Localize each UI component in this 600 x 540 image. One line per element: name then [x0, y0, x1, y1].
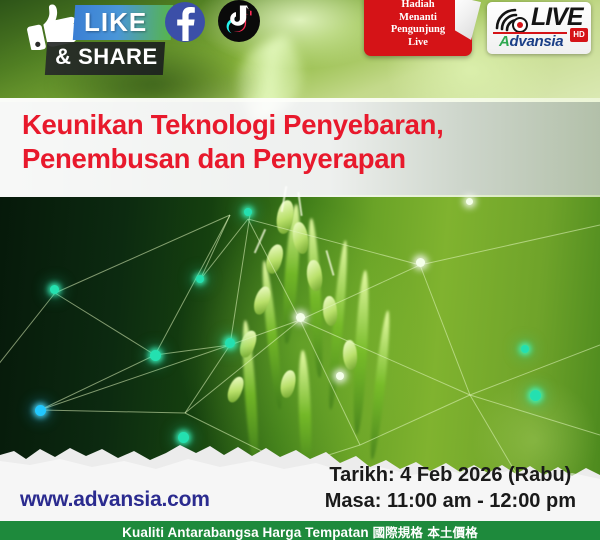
tiktok-glyph — [218, 0, 260, 42]
facebook-glyph — [165, 2, 205, 42]
network-node — [416, 258, 425, 267]
network-node — [196, 275, 204, 283]
share-label: & SHARE — [55, 44, 158, 70]
like-bar[interactable]: LIKE — [73, 5, 173, 40]
advansia-logo-rest: dvansia — [510, 33, 564, 50]
title-line-1: Keunikan Teknologi Penyebaran, — [22, 108, 582, 142]
broadcast-wave-icon — [491, 6, 531, 32]
network-node — [466, 198, 473, 205]
network-node — [521, 345, 529, 353]
network-node — [530, 390, 541, 401]
footer-tagline: Kualiti Antarabangsa Harga Tempatan 國際規格… — [0, 522, 600, 540]
promo-poster: Keunikan Teknologi Penyebaran, Penembusa… — [0, 0, 600, 540]
ribbon-line-4: Live — [364, 37, 472, 50]
title-line-2: Penembusan dan Penyerapan — [22, 142, 582, 176]
footer-tagline-my: Kualiti Antarabangsa Harga Tempatan — [122, 525, 372, 540]
like-share-badge[interactable]: LIKE & SHARE — [12, 2, 172, 80]
like-label: LIKE — [84, 7, 147, 38]
footer-tagline-cn: 國際規格 本土價格 — [373, 525, 478, 540]
network-node — [244, 208, 252, 216]
event-time: Masa: 11:00 am - 12:00 pm — [325, 488, 576, 514]
event-date: Tarikh: 4 Feb 2026 (Rabu) — [325, 462, 576, 488]
network-node — [150, 350, 161, 361]
network-node — [336, 372, 344, 380]
website-url[interactable]: www.advansia.com — [20, 488, 210, 512]
advansia-logo: Advansia — [499, 33, 563, 50]
page-title: Keunikan Teknologi Penyebaran, Penembusa… — [22, 108, 582, 176]
advansia-logo-a: A — [499, 33, 510, 50]
facebook-icon[interactable] — [165, 2, 205, 42]
event-details: Tarikh: 4 Feb 2026 (Rabu) Masa: 11:00 am… — [325, 462, 576, 514]
title-band: Keunikan Teknologi Penyebaran, Penembusa… — [0, 98, 600, 197]
footer-bar: Kualiti Antarabangsa Harga Tempatan 國際規格… — [0, 521, 600, 540]
tiktok-icon[interactable] — [218, 0, 260, 42]
network-node — [225, 338, 235, 348]
share-bar[interactable]: & SHARE — [45, 42, 165, 75]
hd-tag: HD — [570, 28, 588, 42]
live-badge: LIVE Advansia HD — [487, 2, 591, 54]
network-node — [296, 313, 305, 322]
network-node — [50, 285, 59, 294]
